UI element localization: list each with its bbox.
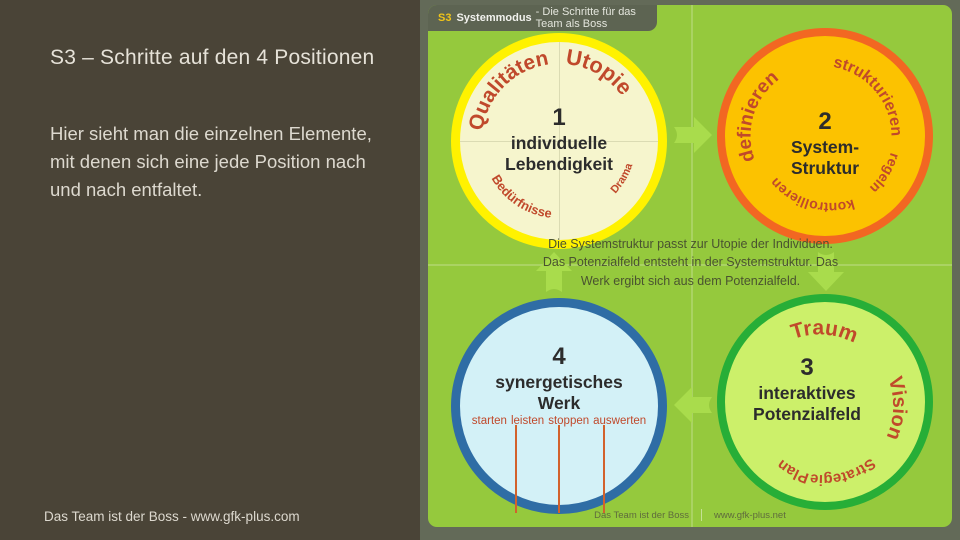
svg-text:Bedürfnisse: Bedürfnisse bbox=[489, 172, 553, 221]
svg-text:definieren: definieren bbox=[734, 67, 782, 165]
header-subtitle-label: - Die Schritte für das Team als Boss bbox=[536, 6, 645, 30]
svg-text:Utopie: Utopie bbox=[564, 44, 638, 100]
slide-footer-credit: Das Team ist der Boss - www.gfk-plus.com bbox=[44, 509, 300, 524]
circle-3-arc-words: Traum Vision Strategie Plan bbox=[725, 302, 925, 502]
circle-4-center-text: 4 synergetisches Werk bbox=[460, 343, 658, 414]
arc-word-strukturieren: strukturieren bbox=[832, 54, 905, 137]
diagram-header-banner: S3 Systemmodus - Die Schritte für das Te… bbox=[428, 5, 657, 31]
circle-2-system-struktur[interactable]: definieren strukturieren regeln kontroll… bbox=[717, 28, 933, 244]
circle-1-arc-words: Utopie Qualitäten Bedürfnisse Drama bbox=[460, 42, 658, 240]
circle-4-separator-3 bbox=[603, 425, 605, 513]
arc-word-drama: Drama bbox=[609, 161, 636, 196]
left-text-panel: S3 – Schritte auf den 4 Positionen Hier … bbox=[0, 0, 420, 540]
arc-word-definieren: definieren bbox=[734, 67, 782, 165]
green-diagram-panel: S3 Systemmodus - Die Schritte für das Te… bbox=[428, 5, 952, 527]
svg-text:kontrollieren: kontrollieren bbox=[767, 175, 857, 216]
circle-3-interaktives-potenzialfeld[interactable]: Traum Vision Strategie Plan 3 interaktiv… bbox=[717, 294, 933, 510]
circle-4-label-line1: synergetisches bbox=[460, 372, 658, 393]
arc-word-strategie: Strategie bbox=[809, 455, 879, 489]
circle-4-label-line2: Werk bbox=[460, 393, 658, 414]
page-title: S3 – Schritte auf den 4 Positionen bbox=[50, 44, 400, 71]
arc-word-vision: Vision bbox=[882, 374, 911, 443]
circle-1-individuelle-lebendigkeit[interactable]: Utopie Qualitäten Bedürfnisse Drama 1 in… bbox=[451, 33, 667, 249]
arrow-right-icon bbox=[672, 113, 714, 157]
svg-text:Drama: Drama bbox=[609, 161, 636, 196]
arc-word-regeln: regeln bbox=[867, 151, 903, 197]
slide-body-text: Hier sieht man die einzelnen Elemente, m… bbox=[50, 120, 380, 204]
arc-word-plan: Plan bbox=[774, 456, 811, 487]
center-explanation-text: Die Systemstruktur passt zur Utopie der … bbox=[538, 235, 843, 290]
panel-footer-right: www.gfk-plus.net bbox=[714, 510, 786, 521]
circle-4-separator-lines bbox=[460, 425, 658, 515]
panel-footer: Das Team ist der Boss www.gfk-plus.net bbox=[428, 509, 952, 521]
header-title-label: Systemmodus bbox=[456, 12, 531, 24]
circle-2-arc-words: definieren strukturieren regeln kontroll… bbox=[725, 36, 925, 236]
circle-4-synergetisches-werk[interactable]: 4 synergetisches Werk starten leisten st… bbox=[451, 298, 667, 514]
panel-footer-left: Das Team ist der Boss bbox=[594, 510, 689, 521]
diagram-area: S3 Systemmodus - Die Schritte für das Te… bbox=[420, 0, 960, 540]
circle-4-number: 4 bbox=[460, 343, 658, 371]
arc-word-traum: Traum bbox=[788, 316, 861, 347]
svg-text:Vision: Vision bbox=[882, 374, 911, 443]
svg-text:Plan: Plan bbox=[774, 456, 811, 487]
arrow-left-icon bbox=[672, 383, 714, 427]
svg-text:Strategie: Strategie bbox=[809, 455, 879, 489]
svg-text:Traum: Traum bbox=[788, 316, 861, 347]
arc-word-qualitaeten: Qualitäten bbox=[464, 47, 550, 133]
header-code-label: S3 bbox=[438, 12, 451, 24]
panel-footer-separator bbox=[701, 509, 702, 521]
circle-4-separator-2 bbox=[558, 425, 560, 513]
svg-text:strukturieren: strukturieren bbox=[832, 54, 905, 137]
arc-word-kontrollieren: kontrollieren bbox=[767, 175, 857, 216]
svg-text:Qualitäten: Qualitäten bbox=[464, 47, 550, 133]
arc-word-beduerfnisse: Bedürfnisse bbox=[489, 172, 553, 221]
svg-text:regeln: regeln bbox=[867, 151, 903, 197]
arc-word-utopie: Utopie bbox=[564, 44, 638, 100]
circle-4-separator-1 bbox=[515, 425, 517, 513]
